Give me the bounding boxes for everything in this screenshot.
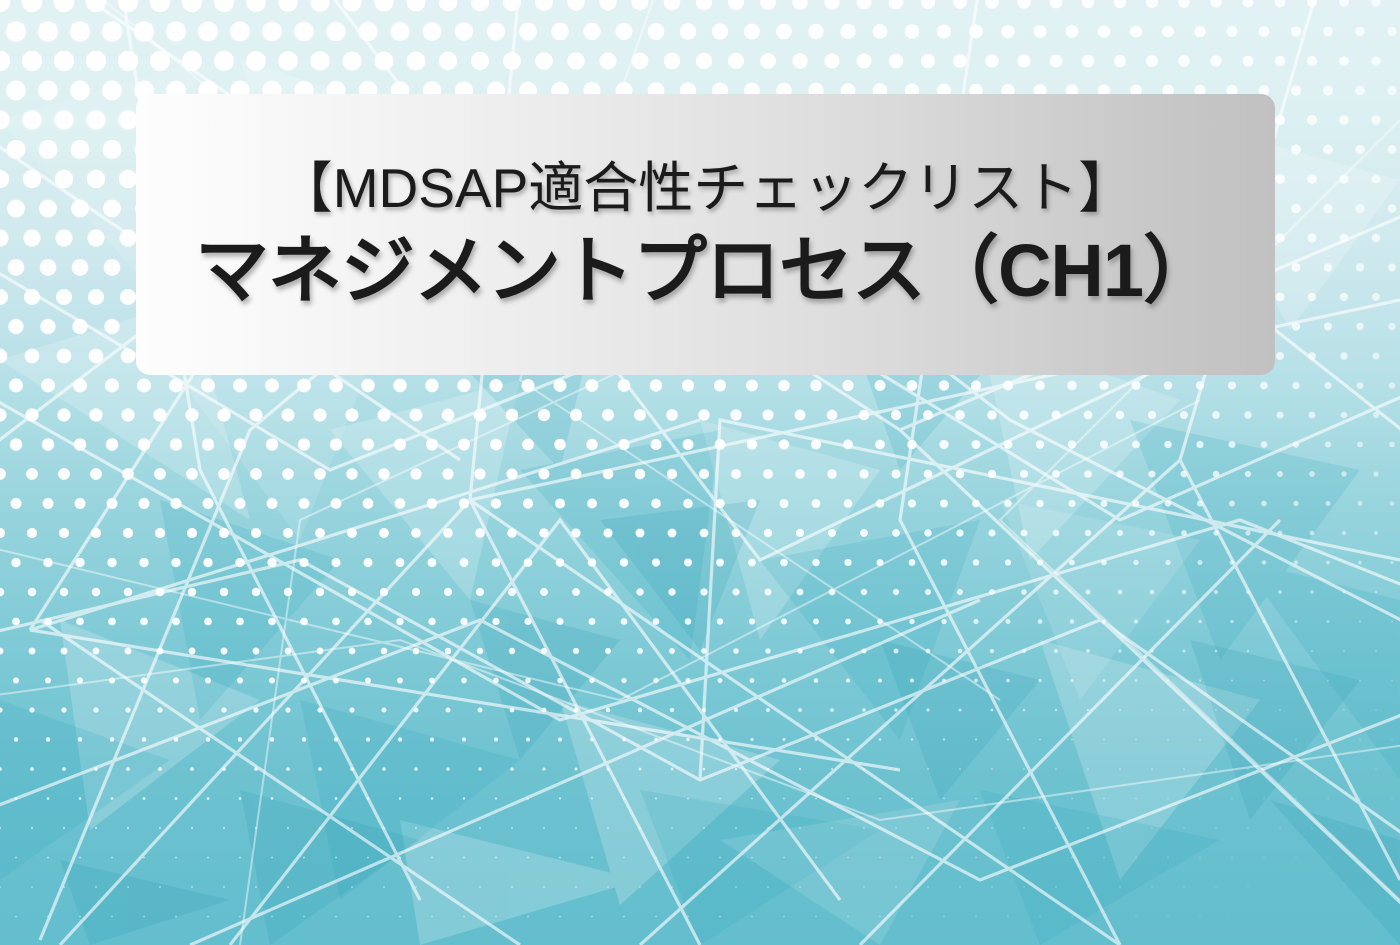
banner-title: マネジメントプロセス（CH1） — [195, 234, 1216, 308]
title-banner: 【MDSAP適合性チェックリスト】 マネジメントプロセス（CH1） — [136, 94, 1275, 375]
banner-subtitle: 【MDSAP適合性チェックリスト】 — [278, 161, 1134, 216]
slide-canvas: 【MDSAP適合性チェックリスト】 マネジメントプロセス（CH1） — [0, 0, 1400, 945]
